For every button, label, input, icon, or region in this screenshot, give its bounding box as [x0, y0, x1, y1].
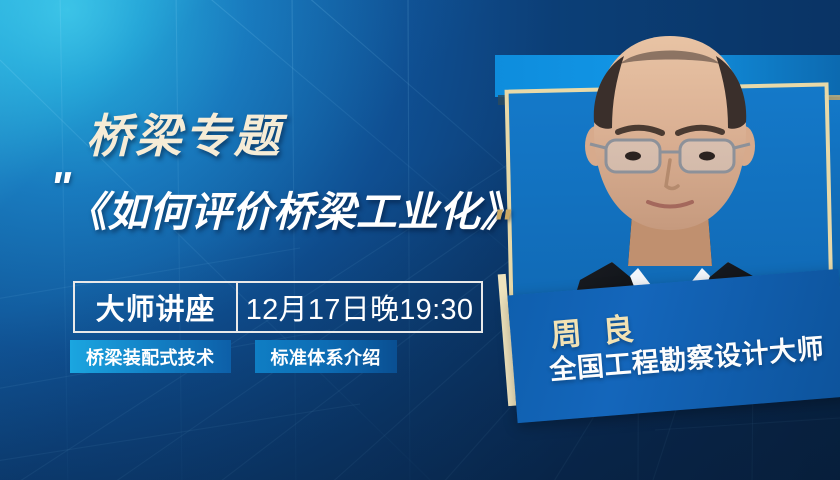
page-subtitle: 《如何评价桥梁工业化》 — [66, 178, 522, 238]
lecture-datetime: 12月17日晚19:30 — [238, 283, 481, 331]
speaker-nameplate: 周 良 全国工程勘察设计大师 — [507, 269, 840, 423]
event-poster: 周 良 全国工程勘察设计大师 桥梁专题 " 《如何评价桥梁工业化》 " 大师讲座… — [0, 0, 840, 480]
quote-close-mark: " — [492, 204, 511, 244]
lecture-badge: 大师讲座 — [75, 283, 238, 331]
topic-tag-row: 桥梁装配式技术 标准体系介绍 — [70, 340, 397, 373]
page-title: 桥梁专题 — [86, 100, 283, 166]
lecture-info-box: 大师讲座 12月17日晚19:30 — [73, 281, 483, 333]
topic-tag-2[interactable]: 标准体系介绍 — [255, 340, 397, 373]
topic-tag-1[interactable]: 桥梁装配式技术 — [70, 340, 231, 373]
